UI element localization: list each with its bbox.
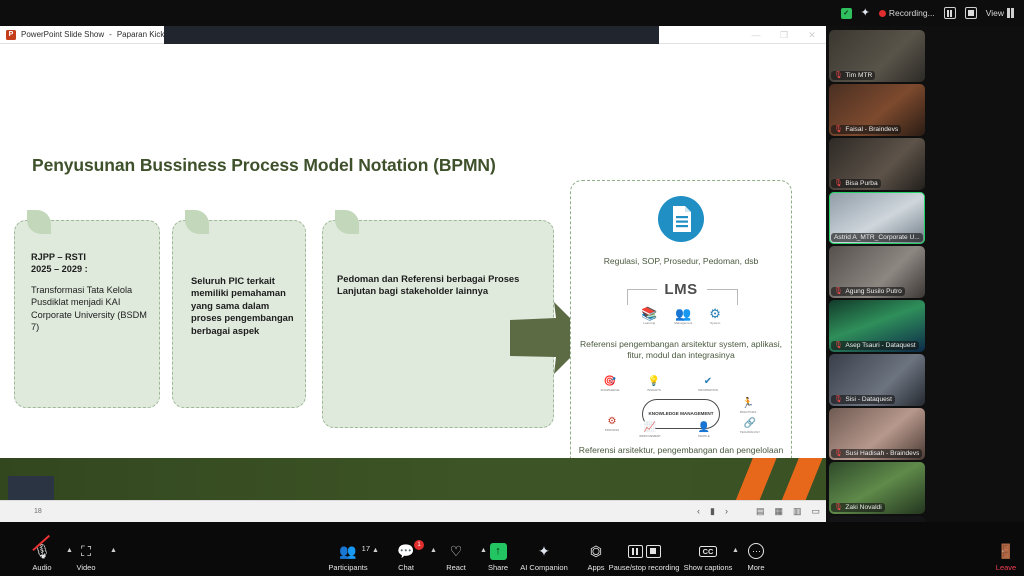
lms-item-label: Learning	[643, 321, 655, 325]
statusbar-tools: ‹ ▮ › ▤ ▦ ▥ ▭	[697, 507, 820, 516]
window-controls: — ❐ ✕	[742, 26, 826, 44]
restore-button[interactable]: ❐	[770, 26, 798, 44]
participant-tile[interactable]: 🎙Zaki Novaldi	[829, 462, 925, 514]
slide-title: Penyusunan Bussiness Process Model Notat…	[32, 155, 496, 176]
lms-item-label: Management	[674, 321, 692, 325]
mic-muted-icon: 🎙	[834, 126, 843, 133]
participant-nameplate: 🎙Asep Tsauri - Dataquest	[831, 341, 919, 350]
recording-dot-icon	[879, 10, 886, 17]
participants-panel[interactable]: 🎙Tim MTR🎙Faisal - Braindevs🎙Bisa PurbaAs…	[826, 26, 1024, 522]
share-screen-square: ↑	[490, 543, 507, 560]
participant-nameplate: 🎙Faisal - Braindevs	[831, 125, 901, 134]
chart-icon: 📈IMPROVEMENT	[633, 423, 667, 438]
toolbar-item-label: Show captions	[684, 563, 733, 572]
lms-label: LMS	[664, 281, 697, 298]
participant-nameplate: 🎙Susi Hadisah - Braindevs	[831, 449, 922, 458]
toolbar-item-label: React	[446, 563, 466, 572]
gear-icon: ⚙PROCESS	[595, 417, 629, 432]
powerpoint-logo-icon: P	[6, 30, 16, 40]
card-pedoman-text: Pedoman dan Referensi berbagai Proses La…	[337, 273, 542, 298]
orange-stripe	[726, 458, 780, 500]
toolbar-item-label: Pause/stop recording	[609, 563, 680, 572]
slide-canvas: Penyusunan Bussiness Process Model Notat…	[0, 48, 826, 500]
mic-muted-icon: 🎙	[834, 342, 843, 349]
toolbar-pause-stop-recording-button[interactable]: Pause/stop recording	[616, 541, 672, 572]
mic-muted-icon: 🎙	[834, 396, 843, 403]
pause-stop-recording-icon	[628, 541, 661, 561]
toolbar-item-label: Apps	[587, 563, 604, 572]
participant-tile[interactable]: 🎙Susi Hadisah - Braindevs	[829, 408, 925, 460]
mic-muted-icon: 🎙	[834, 180, 843, 187]
titlebar-overlay	[164, 26, 659, 44]
card-pic: Seluruh PIC terkait memiliki pemahaman y…	[172, 220, 306, 408]
leaf-decoration-icon	[335, 210, 359, 234]
leave-icon: 🚪	[997, 541, 1014, 561]
powerpoint-titlebar: P PowerPoint Slide Show - Paparan Kick O…	[0, 26, 826, 44]
view-label: View	[986, 8, 1004, 18]
participant-tile[interactable]: Astrid A_MTR_Corporate U...	[829, 192, 925, 244]
learning-icon: 📚 Learning	[641, 307, 657, 325]
shield-icon[interactable]: ✓	[841, 8, 852, 19]
participant-tile[interactable]: 🎙Tim MTR	[829, 30, 925, 82]
toolbar-participants-button[interactable]: 👥Participants17	[320, 541, 376, 572]
card-rjpp-rsti-heading: RJPP – RSTI 2025 – 2029 :	[31, 251, 151, 275]
toolbar-item-label: Leave	[996, 563, 1016, 572]
leaf-decoration-icon	[27, 210, 51, 234]
mic-muted-icon: 🎙	[834, 450, 843, 457]
stop-icon[interactable]	[965, 7, 977, 19]
participant-nameplate: 🎙Agung Susilo Putro	[831, 287, 905, 296]
minimize-button[interactable]: —	[742, 26, 770, 44]
layout-icon	[1007, 8, 1016, 18]
knowledge-management-diagram: KNOWLEDGE MANAGEMENT 💡INSIGHTS ✔INFORMAT…	[571, 377, 791, 445]
toolbar-item-label: Chat	[398, 563, 414, 572]
lms-item-label: System	[710, 321, 720, 325]
closed-captions-icon: CC	[699, 541, 718, 561]
recording-status: Recording...	[879, 8, 935, 18]
participant-name: Sisi - Dataquest	[845, 396, 892, 403]
powerpoint-statusbar: 18 ‹ ▮ › ▤ ▦ ▥ ▭	[0, 500, 826, 522]
toolbar-item-label: Participants	[328, 563, 367, 572]
app-label: PowerPoint Slide Show	[21, 30, 104, 39]
screen-root: ✓ ✦ Recording... View P PowerPoint Slide…	[0, 0, 1024, 576]
toolbar-item-label: Video	[76, 563, 95, 572]
participants-icon: 👥	[339, 541, 356, 561]
current-slide-indicator[interactable]: ▮	[710, 507, 715, 516]
outcome-caption-1: Regulasi, SOP, Prosedur, Pedoman, dsb	[571, 256, 791, 267]
toolbar-leave-button[interactable]: 🚪Leave	[978, 541, 1024, 572]
participant-name: Asep Tsauri - Dataquest	[845, 342, 915, 349]
participant-name: Susi Hadisah - Braindevs	[845, 450, 919, 457]
toolbar-item-label: More	[747, 563, 764, 572]
mic-muted-icon: 🎙	[834, 504, 843, 511]
title-separator: -	[109, 30, 112, 39]
chevron-up-icon[interactable]: ▲	[110, 547, 117, 554]
ai-companion-icon: ✦	[538, 541, 550, 561]
participant-tile[interactable]: 🎙Faisal - Braindevs	[829, 84, 925, 136]
participant-name: Bisa Purba	[845, 180, 877, 187]
system-icon: ⚙ System	[709, 307, 721, 325]
participant-name: Zaki Novaldi	[845, 504, 881, 511]
toolbar-ai-companion-button[interactable]: ✦AI Companion	[516, 541, 572, 572]
lms-diagram: LMS 📚 Learning 👥 Management	[571, 271, 791, 333]
next-slide-button[interactable]: ›	[725, 507, 728, 516]
participant-tile[interactable]: 🎙Agung Susilo Putro	[829, 246, 925, 298]
recording-label: Recording...	[889, 8, 935, 18]
ai-sparkle-icon[interactable]: ✦	[861, 8, 870, 19]
prev-slide-button[interactable]: ‹	[697, 507, 700, 516]
reading-view-button[interactable]: ▥	[793, 507, 802, 516]
view-control[interactable]: View	[986, 8, 1016, 18]
close-button[interactable]: ✕	[798, 26, 826, 44]
chat-icon: 💬	[397, 541, 414, 561]
participant-name: Faisal - Braindevs	[845, 126, 898, 133]
normal-view-button[interactable]: ▤	[756, 507, 765, 516]
check-icon: ✔INFORMATION	[691, 377, 725, 392]
document-icon	[657, 195, 705, 243]
person-icon: 👤PEOPLE	[687, 423, 721, 438]
participant-name: Agung Susilo Putro	[845, 288, 901, 295]
participant-tile[interactable]: 🎙Sisi - Dataquest	[829, 354, 925, 406]
toolbar-video-button[interactable]: ⛶Video	[58, 541, 114, 572]
lms-icon-row: 📚 Learning 👥 Management ⚙ System	[571, 307, 791, 325]
zoom-toolbar: 🎙Audio▲⛶Video▲👥Participants17▲💬Chat1▲♡Re…	[0, 522, 1024, 576]
pause-icon[interactable]	[944, 7, 956, 19]
toolbar-item-label: Audio	[32, 563, 51, 572]
management-icon: 👥 Management	[674, 307, 692, 325]
participant-nameplate: 🎙Tim MTR	[831, 71, 875, 80]
video-camera-icon: ⛶	[81, 541, 91, 561]
participant-nameplate: Astrid A_MTR_Corporate U...	[831, 233, 923, 242]
slide-sorter-button[interactable]: ▦	[774, 507, 783, 516]
share-screen-icon: ↑	[490, 541, 507, 561]
mic-muted-icon: 🎙	[834, 288, 843, 295]
orange-stripe	[772, 458, 826, 500]
slide-number: 18	[34, 508, 42, 515]
outcome-panel: Regulasi, SOP, Prosedur, Pedoman, dsb LM…	[570, 180, 792, 492]
participant-name: Astrid A_MTR_Corporate U...	[834, 234, 920, 241]
powerpoint-window: P PowerPoint Slide Show - Paparan Kick O…	[0, 26, 826, 522]
participant-tiles: 🎙Tim MTR🎙Faisal - Braindevs🎙Bisa PurbaAs…	[829, 30, 1021, 576]
card-rjpp-rsti-text: RJPP – RSTI 2025 – 2029 : Transformasi T…	[31, 251, 151, 333]
toolbar-item-label: AI Companion	[520, 563, 568, 572]
participant-nameplate: 🎙Bisa Purba	[831, 179, 881, 188]
microphone-muted-icon: 🎙	[33, 541, 51, 561]
participant-name: Tim MTR	[845, 72, 872, 79]
card-rjpp-rsti-body: Transformasi Tata Kelola Pusdiklat menja…	[31, 285, 147, 331]
band-thumbnail	[8, 476, 54, 500]
people-icon: 🏃PRACTICES	[731, 399, 765, 414]
slideshow-button[interactable]: ▭	[811, 507, 820, 516]
zoom-top-controls: ✓ ✦ Recording... View	[841, 0, 1016, 26]
leaf-decoration-icon	[185, 210, 209, 234]
card-rjpp-rsti: RJPP – RSTI 2025 – 2029 : Transformasi T…	[14, 220, 160, 408]
outcome-caption-2: Referensi pengembangan arsitektur system…	[571, 339, 791, 361]
chat-unread-badge: 1	[414, 540, 424, 550]
participant-count: 17	[362, 544, 370, 553]
lightbulb-icon: 💡INSIGHTS	[637, 377, 671, 392]
participant-tile[interactable]: 🎙Asep Tsauri - Dataquest	[829, 300, 925, 352]
toolbar-chat-button[interactable]: 💬Chat1	[378, 541, 434, 572]
mic-muted-icon: 🎙	[834, 72, 843, 79]
slide-footer-band	[0, 458, 826, 500]
apps-icon: ⏣	[590, 541, 602, 561]
participant-nameplate: 🎙Zaki Novaldi	[831, 503, 885, 512]
more-icon: ⋯	[748, 541, 764, 561]
toolbar-item-label: Share	[488, 563, 508, 572]
react-heart-icon: ♡	[450, 541, 463, 561]
participant-nameplate: 🎙Sisi - Dataquest	[831, 395, 895, 404]
toolbar-more-button[interactable]: ⋯More	[728, 541, 784, 572]
network-icon: 🔗TECHNOLOGY	[733, 419, 767, 434]
participant-tile[interactable]: 🎙Bisa Purba	[829, 138, 925, 190]
zoom-top-bar: ✓ ✦ Recording... View	[0, 0, 1024, 26]
card-pic-text: Seluruh PIC terkait memiliki pemahaman y…	[191, 275, 296, 337]
target-icon: 🎯KNOWLEDGE	[593, 377, 627, 392]
